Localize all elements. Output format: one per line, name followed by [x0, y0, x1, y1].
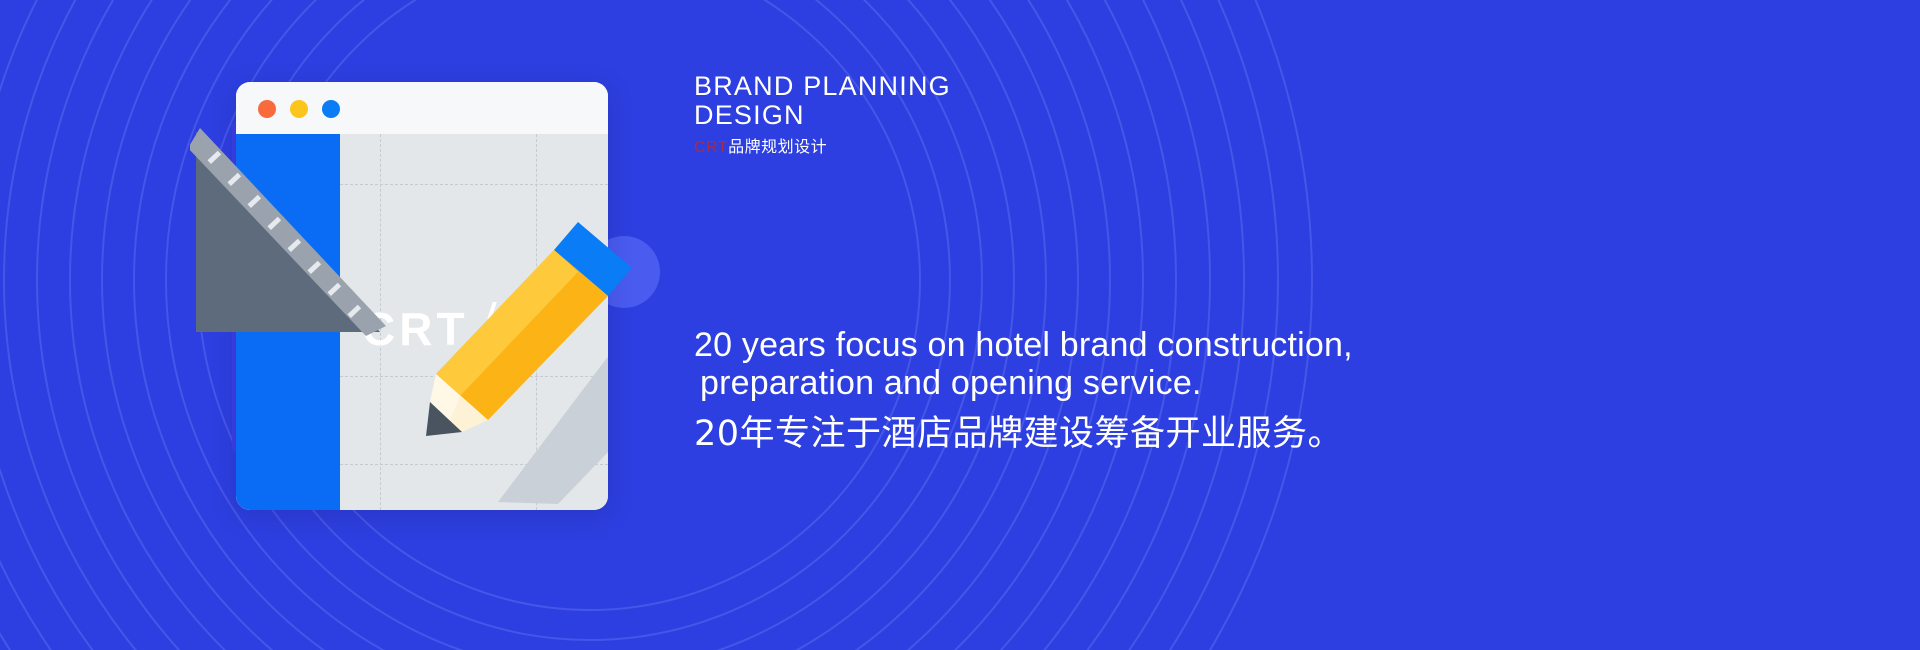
headline-line-1: BRAND PLANNING — [694, 72, 951, 101]
headline-line-2: DESIGN — [694, 101, 951, 130]
maximize-dot-icon — [322, 100, 340, 118]
headline-block: BRAND PLANNING DESIGN CRT品牌规划设计 — [694, 72, 951, 158]
close-dot-icon — [258, 100, 276, 118]
set-square-ruler-icon — [190, 126, 388, 338]
brand-illustration: CRT — [190, 60, 710, 530]
hero-banner: CRT — [0, 0, 1920, 650]
tagline-cn: 20年专注于酒店品牌建设筹备开业服务。 — [694, 412, 1394, 456]
subheadline: CRT品牌规划设计 — [694, 138, 951, 158]
pencil-icon — [426, 220, 636, 436]
subheadline-cn: 品牌规划设计 — [728, 139, 827, 156]
tagline-block: 20 years focus on hotel brand constructi… — [694, 326, 1394, 456]
tagline-en-line-1: 20 years focus on hotel brand constructi… — [694, 326, 1394, 364]
tagline-en-line-2: preparation and opening service. — [694, 364, 1394, 402]
subheadline-brand: CRT — [694, 139, 728, 156]
minimize-dot-icon — [290, 100, 308, 118]
